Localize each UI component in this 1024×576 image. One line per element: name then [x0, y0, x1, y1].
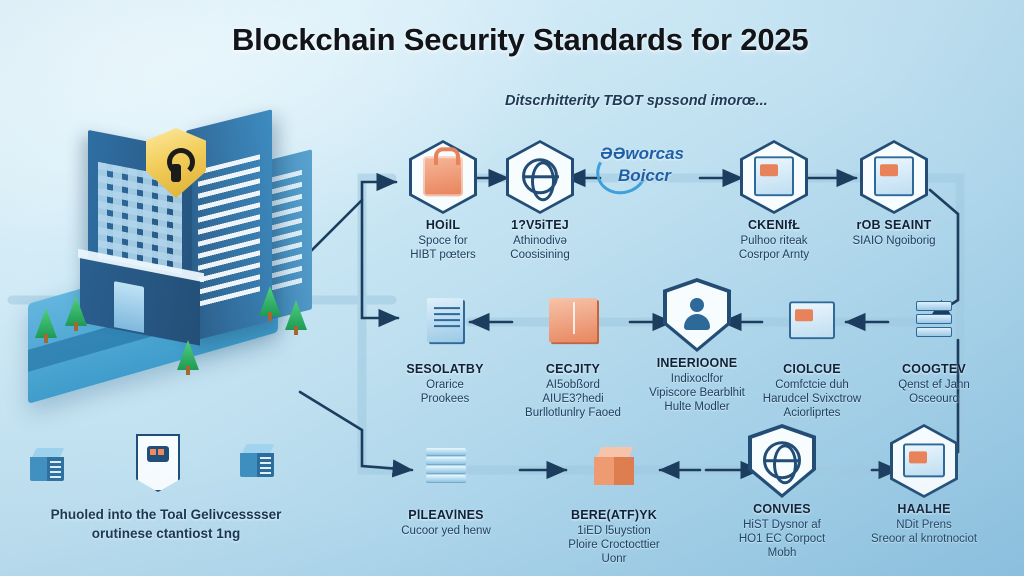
- book-stack-icon: [549, 298, 597, 342]
- node-description: Cucoor yed henw: [378, 524, 514, 538]
- page-title: Blockchain Security Standards for 2025: [232, 22, 872, 58]
- node-label: CONVIES: [714, 502, 850, 516]
- badge-plain: [539, 284, 607, 358]
- node-row3-1[interactable]: PlLEAVlNES Cucoor yed henw: [378, 430, 514, 538]
- node-description: AI5obßord AIUE3?hedi Burllotlunlry Faoed: [505, 378, 641, 420]
- node-label: CKENIfŁ: [706, 218, 842, 232]
- badge-plain: [411, 284, 479, 358]
- banner-certificate-icon: [136, 434, 180, 492]
- node-description: Orarice Prookees: [377, 378, 513, 406]
- node-description: Comfctcie duh Harudcel Svixctrow Aciorli…: [744, 378, 880, 420]
- secure-building-illustration: [18, 118, 318, 368]
- layer-stack-icon: [426, 448, 466, 486]
- badge-plain: [412, 430, 480, 504]
- server-rack-icon: [240, 444, 274, 478]
- brand-logo-mark: ƏƏworcas Boiccr: [596, 140, 716, 196]
- badge-shield: [663, 278, 731, 352]
- node-label: COOGTEV: [866, 362, 1002, 376]
- key-circle-icon: [522, 158, 558, 194]
- screen-card-icon: [874, 156, 914, 196]
- badge-hexagon: [860, 140, 928, 214]
- node-description: SIAIO Ngoiborig: [826, 234, 962, 248]
- node-label: rOB SEAINT: [826, 218, 962, 232]
- node-label: HAALHE: [856, 502, 992, 516]
- node-label: CECJITY: [505, 362, 641, 376]
- node-row2-4[interactable]: CIOLCUE Comfctcie duh Harudcel Svixctrow…: [744, 284, 880, 420]
- orange-cube-icon: [594, 447, 634, 487]
- node-row2-2[interactable]: CECJITY AI5obßord AIUE3?hedi Burllotlunl…: [505, 284, 641, 420]
- document-monitor-icon: [754, 156, 794, 196]
- document-icon: [427, 298, 463, 342]
- badge-hexagon: [506, 140, 574, 214]
- node-row3-3[interactable]: CONVIES HiST Dysnor af HO1 EC Corpoct Mo…: [714, 424, 850, 560]
- badge-plain: [778, 284, 846, 358]
- node-label: PlLEAVlNES: [378, 508, 514, 522]
- node-description: Athinodivə Coosisining: [472, 234, 608, 262]
- server-box-icon: [916, 301, 952, 341]
- node-row1-2[interactable]: 1?V5iTEJ Athinodivə Coosisining: [472, 140, 608, 262]
- cube-server-icon: [30, 448, 64, 482]
- infographic-canvas: Blockchain Security Standards for 2025 D…: [0, 0, 1024, 576]
- padlock-briefcase-icon: [423, 156, 463, 196]
- node-row1-3[interactable]: CKENIfŁ Pulhoo riteak Cosrpor Arnty: [706, 140, 842, 262]
- node-row3-4[interactable]: HAALHE NDit Prens Sreoor al knrotnociot: [856, 424, 992, 546]
- logo-line-1: ƏƏworcas: [600, 144, 684, 164]
- node-row2-1[interactable]: SESOLATBY Orarice Prookees: [377, 284, 513, 406]
- browser-lock-icon: [789, 301, 835, 339]
- left-scene-caption: Phuoled into the Toal Gelivcesssser orut…: [26, 505, 306, 543]
- node-label: 1?V5iTEJ: [472, 218, 608, 232]
- building-entrance: [114, 281, 144, 333]
- node-description: NDit Prens Sreoor al knrotnociot: [856, 518, 992, 546]
- badge-shield: [748, 424, 816, 498]
- node-description: Pulhoo riteak Cosrpor Arnty: [706, 234, 842, 262]
- node-description: Qenst ef Jann Osceourd: [866, 378, 1002, 406]
- badge-hexagon: [890, 424, 958, 498]
- node-description: 1iED l5uystion Ploire Croctocttier Uonr: [546, 524, 682, 566]
- shield-person-icon: [680, 298, 714, 332]
- node-label: SESOLATBY: [377, 362, 513, 376]
- badge-plain: [580, 430, 648, 504]
- node-label: BERE(ATF)YK: [546, 508, 682, 522]
- node-label: CIOLCUE: [744, 362, 880, 376]
- node-row1-4[interactable]: rOB SEAINT SIAIO Ngoiborig: [826, 140, 962, 248]
- badge-hexagon: [740, 140, 808, 214]
- node-row3-2[interactable]: BERE(ATF)YK 1iED l5uystion Ploire Crocto…: [546, 430, 682, 566]
- logo-line-2: Boiccr: [618, 166, 671, 186]
- badge-hexagon: [409, 140, 477, 214]
- globe-shield-icon: [763, 441, 801, 479]
- node-row2-5[interactable]: COOGTEV Qenst ef Jann Osceourd: [866, 284, 1002, 406]
- badge-plain: [900, 284, 968, 358]
- page-subtitle: Ditscrhitterity TBOT spssond imorœ...: [505, 93, 835, 109]
- monitor-edit-icon: [903, 443, 945, 477]
- node-description: HiST Dysnor af HO1 EC Corpoct Mobh: [714, 518, 850, 560]
